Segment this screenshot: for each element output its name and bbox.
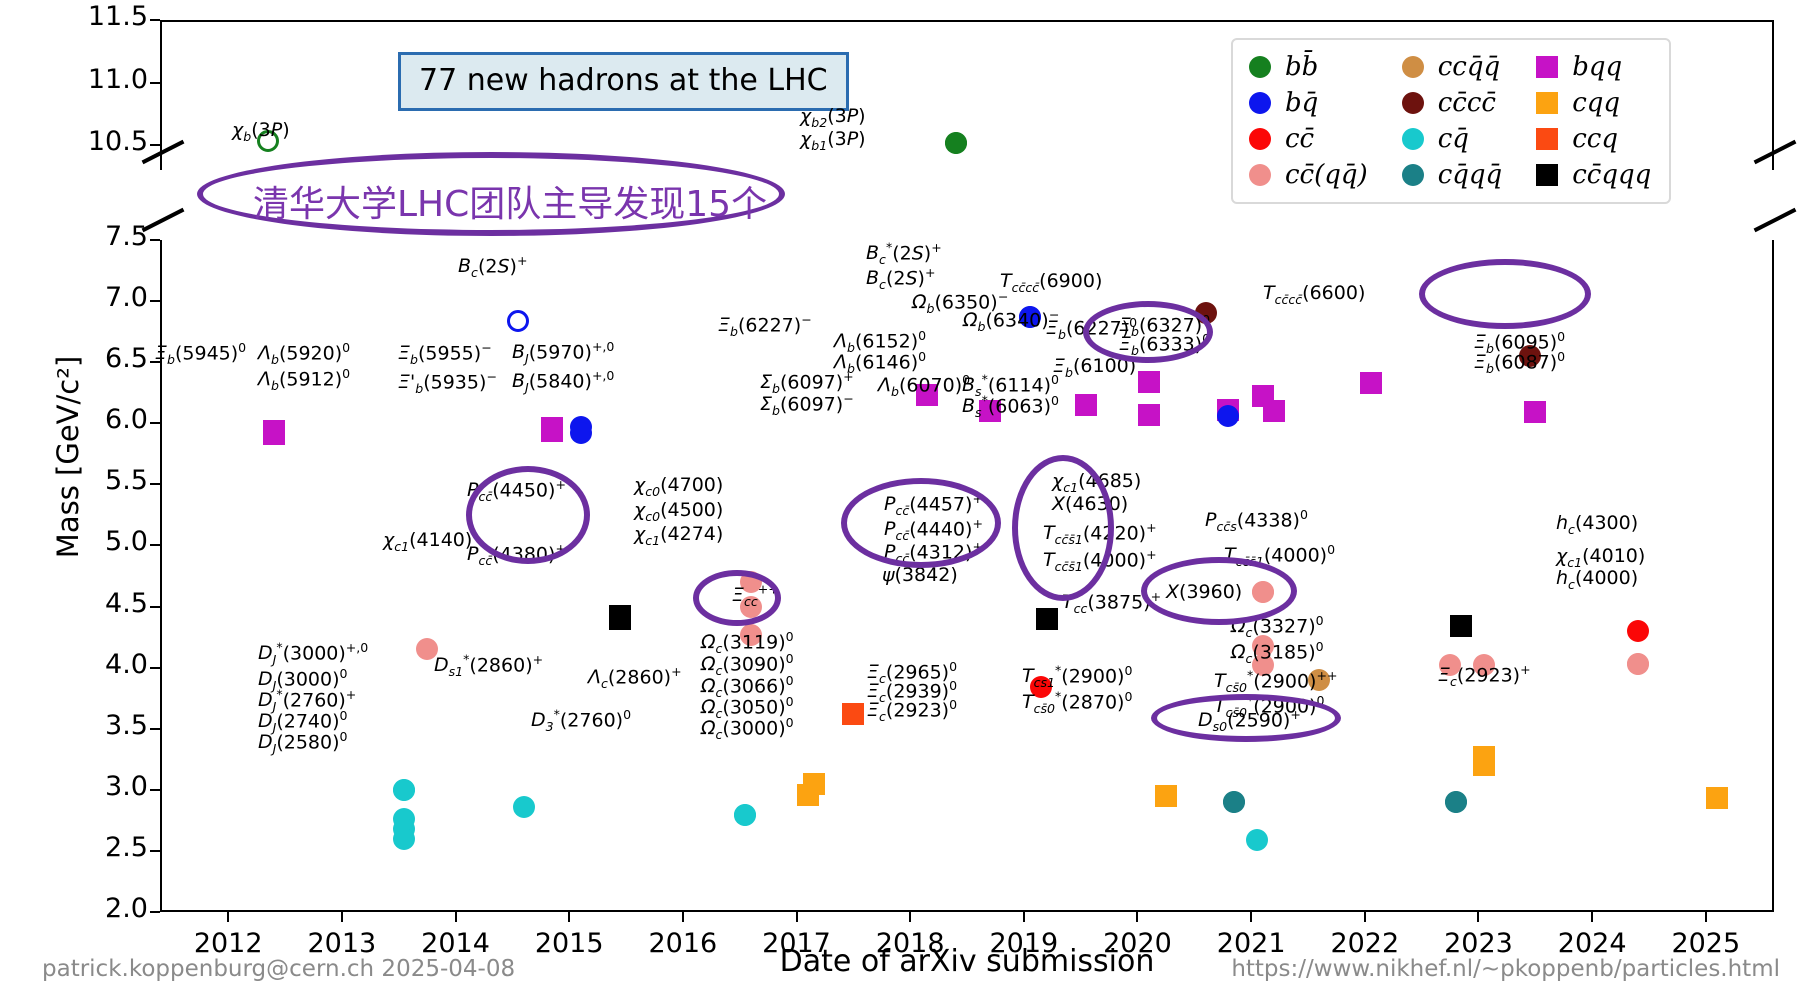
legend-item[interactable]: cq̄qq̄ (1402, 160, 1503, 190)
legend-item[interactable]: bq̄ (1249, 88, 1368, 118)
x-tick-mark (568, 912, 570, 922)
legend-item[interactable]: ccq (1536, 124, 1651, 154)
highlight-ellipse-x3960 (1141, 557, 1297, 625)
data-point-marker (507, 310, 529, 332)
y-tick-label: 3.5 (8, 710, 148, 741)
data-point-marker (797, 784, 819, 806)
highlight-ellipse-ds0-2590 (1151, 694, 1341, 742)
legend-marker-circle-icon (1249, 128, 1271, 150)
particle-label: ψ(3842) (882, 565, 958, 586)
particle-label: Tcs̄0*(2900)++ (1214, 669, 1337, 695)
data-point-marker (609, 608, 631, 630)
particle-label: Ξb(5955)− (398, 341, 492, 367)
x-tick-mark (1364, 912, 1366, 922)
data-point-marker (1138, 404, 1160, 426)
legend-marker-square-icon (1536, 128, 1558, 150)
y-tick-label: 11.0 (8, 64, 148, 95)
y-tick-mark (150, 544, 160, 546)
particle-label: Ξc(2923)0 (867, 698, 957, 724)
particle-label: Ξb(5945)0 (155, 341, 246, 367)
particle-label: Bc(2S)+ (866, 266, 935, 292)
particle-label: Tcs1*(2900)0 (1022, 664, 1132, 690)
x-tick-mark (909, 912, 911, 922)
particle-label: χc0(4700) (634, 475, 723, 498)
data-point-marker (842, 703, 864, 725)
highlight-ellipse-pc4457 (841, 478, 1001, 568)
legend-marker-circle-icon (1249, 92, 1271, 114)
legend-label: cqq (1572, 88, 1620, 118)
data-point-marker (541, 420, 563, 442)
particle-label: Bs*(6063)0 (962, 394, 1059, 420)
x-tick-mark (1250, 912, 1252, 922)
chart-title-text: 77 new hadrons at the LHC (419, 63, 828, 98)
particle-label: Ωc(3185)0 (1231, 640, 1324, 666)
legend-marker-square-icon (1536, 164, 1558, 186)
legend-label: ccq (1572, 124, 1618, 154)
x-tick-mark (1477, 912, 1479, 922)
data-point-marker (1263, 400, 1285, 422)
axis-break-right-lower (1754, 208, 1797, 232)
data-point-marker (1706, 787, 1728, 809)
data-point-marker (263, 423, 285, 445)
x-tick-mark (796, 912, 798, 922)
particle-label: Λc(2860)+ (588, 665, 682, 691)
particle-label: Λb(6146)0 (834, 350, 926, 376)
axis-break-left-lower (142, 208, 185, 232)
legend-label: ccq̄q̄ (1438, 52, 1500, 82)
legend-label: cq̄ (1438, 124, 1469, 154)
particle-label: Tcc̄cc̄(6900) (1000, 271, 1102, 294)
highlight-ellipse-pc4450 (466, 466, 590, 564)
particle-label: χb1(3P) (800, 129, 866, 152)
x-tick-mark (1023, 912, 1025, 922)
data-point-marker (1223, 791, 1245, 813)
particle-label: χb2(3P) (800, 106, 866, 129)
particle-label: Ξb(6087)0 (1474, 350, 1565, 376)
particle-label: χc1(4140) (383, 530, 472, 553)
footer-author: patrick.koppenburg@cern.ch 2025-04-08 (42, 956, 515, 982)
legend-marker-square-icon (1536, 56, 1558, 78)
particle-label: χc1(4274) (634, 524, 723, 547)
legend: bb̄ccq̄q̄bqqbq̄cc̄cc̄cqqcc̄cq̄ccqcc̄(qq̄… (1231, 38, 1671, 204)
tsinghua-annotation-text: 清华大学LHC团队主导发现15个 (253, 175, 767, 227)
particle-label: Ξc(2923)+ (1438, 663, 1531, 689)
data-point-marker (1627, 620, 1649, 642)
particle-label: Σb(6097)− (760, 392, 854, 418)
particle-label: Ωb(6340)− (963, 308, 1059, 334)
legend-marker-square-icon (1536, 92, 1558, 114)
y-tick-mark (150, 606, 160, 608)
data-point-marker (1524, 401, 1546, 423)
legend-item[interactable]: cc̄(qq̄) (1249, 160, 1368, 190)
particle-label: χb(3P) (232, 120, 290, 143)
data-point-marker (1360, 372, 1382, 394)
y-tick-mark (150, 422, 160, 424)
data-point-marker (570, 422, 592, 444)
legend-label: cq̄qq̄ (1438, 160, 1503, 190)
legend-label: cc̄qqq (1572, 160, 1651, 190)
legend-label: cc̄(qq̄) (1285, 160, 1368, 190)
particle-label: Pcc̄s(4338)0 (1205, 508, 1308, 534)
y-tick-label: 2.5 (8, 832, 148, 863)
footer-url[interactable]: https://www.nikhef.nl/~pkoppenb/particle… (1231, 956, 1780, 982)
y-tick-mark (150, 483, 160, 485)
legend-item[interactable]: cc̄qqq (1536, 160, 1651, 190)
y-tick-label: 11.5 (8, 1, 148, 32)
legend-marker-circle-icon (1249, 164, 1271, 186)
particle-label: χc1(4010) (1556, 546, 1645, 569)
x-tick-mark (1136, 912, 1138, 922)
legend-marker-circle-icon (1402, 164, 1424, 186)
y-tick-label: 2.0 (8, 893, 148, 924)
data-point-marker (1445, 791, 1467, 813)
y-tick-mark (150, 19, 160, 21)
legend-item[interactable]: cqq (1536, 88, 1651, 118)
particle-label: Λb(5912)0 (258, 367, 350, 393)
y-tick-mark (150, 667, 160, 669)
particle-label: D3*(2760)0 (531, 708, 631, 734)
particle-label: hc(4000) (1556, 568, 1638, 591)
particle-label: χc0(4500) (634, 500, 723, 523)
data-point-marker (1036, 608, 1058, 630)
legend-item[interactable]: cc̄ (1249, 124, 1368, 154)
y-tick-mark (150, 789, 160, 791)
legend-label: cc̄cc̄ (1438, 88, 1496, 118)
y-tick-label: 4.0 (8, 649, 148, 680)
y-tick-label: 3.0 (8, 771, 148, 802)
legend-item[interactable]: cc̄cc̄ (1402, 88, 1503, 118)
data-point-marker (1473, 754, 1495, 776)
particle-label: Tcs̄0*(2870)0 (1022, 690, 1132, 716)
particle-label: Bc(2S)+ (458, 254, 527, 280)
y-tick-mark (150, 911, 160, 913)
particle-label: hc(4300) (1556, 513, 1638, 536)
data-point-marker (1246, 829, 1268, 851)
particle-label: Ξ'b(5935)− (398, 370, 497, 396)
particle-label: Ξb(6227)− (718, 313, 812, 339)
legend-label: cc̄ (1285, 124, 1314, 154)
x-tick-mark (455, 912, 457, 922)
highlight-ellipse-xib6327 (1083, 301, 1213, 363)
particle-label: Λb(5920)0 (258, 341, 350, 367)
particle-label: Ωc(3000)0 (701, 716, 794, 742)
legend-marker-circle-icon (1402, 56, 1424, 78)
data-point-marker (1450, 615, 1472, 637)
chart-title-box: 77 new hadrons at the LHC (398, 52, 849, 111)
x-tick-mark (1591, 912, 1593, 922)
data-point-marker (393, 828, 415, 850)
data-point-marker (513, 796, 535, 818)
legend-label: bq̄ (1285, 88, 1318, 118)
highlight-ellipse-tcccc6600 (1419, 259, 1591, 329)
particle-label: Ds1*(2860)+ (434, 653, 543, 679)
y-tick-mark (150, 728, 160, 730)
particle-label: BJ(5970)+,0 (512, 340, 614, 366)
y-tick-mark (150, 239, 160, 241)
legend-marker-circle-icon (1249, 56, 1271, 78)
highlight-ellipse-chic1-tccs (1012, 455, 1114, 601)
legend-item[interactable]: ccq̄q̄ (1402, 52, 1503, 82)
x-tick-mark (341, 912, 343, 922)
data-point-marker (1075, 394, 1097, 416)
particle-label: DJ*(3000)+,0 (258, 641, 368, 667)
data-point-marker (945, 132, 967, 154)
data-point-marker (1627, 653, 1649, 675)
legend-item[interactable]: bb̄ (1249, 52, 1368, 82)
particle-label: Bc*(2S)+ (866, 241, 942, 267)
highlight-ellipse-xicc (693, 570, 781, 626)
y-axis-label: Mass [GeV/c²] (51, 297, 85, 617)
x-tick-mark (682, 912, 684, 922)
x-tick-mark (227, 912, 229, 922)
legend-marker-circle-icon (1402, 92, 1424, 114)
x-tick-mark (1705, 912, 1707, 922)
y-tick-mark (150, 144, 160, 146)
legend-label: bb̄ (1285, 52, 1318, 82)
legend-item[interactable]: cq̄ (1402, 124, 1503, 154)
y-tick-mark (150, 300, 160, 302)
legend-item[interactable]: bqq (1536, 52, 1651, 82)
particle-label: Tcc̄cc̄(6600) (1263, 283, 1365, 306)
particle-label: BJ(5840)+,0 (512, 369, 614, 395)
particle-label: Λb(6070)0 (878, 373, 970, 399)
data-point-marker (1155, 785, 1177, 807)
y-tick-label: 10.5 (8, 126, 148, 157)
data-point-marker (1138, 371, 1160, 393)
legend-label: bqq (1572, 52, 1622, 82)
y-tick-mark (150, 850, 160, 852)
legend-marker-circle-icon (1402, 128, 1424, 150)
particle-label: DJ(2580)0 (258, 730, 348, 756)
y-tick-label: 7.5 (8, 221, 148, 252)
y-tick-mark (150, 82, 160, 84)
